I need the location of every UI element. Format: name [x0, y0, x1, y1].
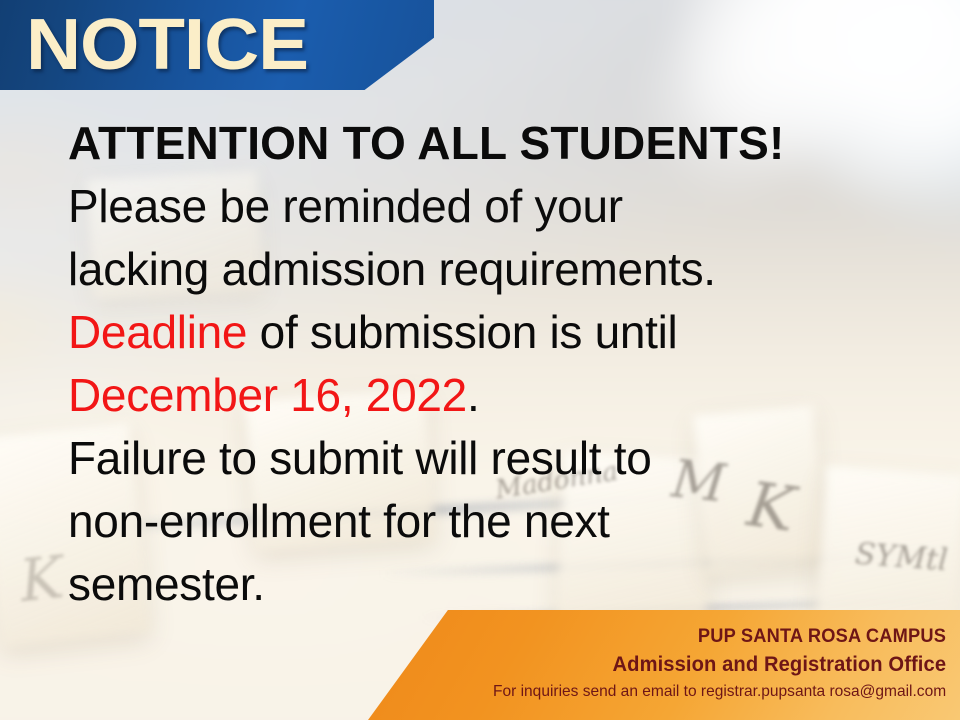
announcement-line-4: Deadline of submission is until [68, 301, 928, 364]
announcement-line-5: December 16, 2022. [68, 364, 928, 427]
footer-campus-name: PUP SANTA ROSA CAMPUS [498, 624, 946, 650]
notice-poster: Madonna M K SYMtl K NOTICE ATTENTION TO … [0, 0, 960, 720]
announcement-line-7-text: non-enrollment for the next [68, 495, 610, 547]
announcement-line-4-text: of submission is until [247, 306, 677, 358]
announcement-line-6: Failure to submit will result to [68, 427, 928, 490]
announcement-line-3-text: lacking admission requirements. [68, 243, 716, 295]
announcement-line-5-text: . [467, 369, 479, 421]
announcement-headline: ATTENTION TO ALL STUDENTS! [68, 112, 928, 175]
announcement-line-3: lacking admission requirements. [68, 238, 928, 301]
deadline-keyword: Deadline [68, 306, 247, 358]
announcement-line-6-text: Failure to submit will result to [68, 432, 651, 484]
footer-office-name: Admission and Registration Office [498, 650, 946, 679]
announcement-line-2: Please be reminded of your [68, 175, 928, 238]
notice-ribbon: NOTICE [0, 0, 434, 90]
notice-ribbon-label: NOTICE [26, 9, 308, 81]
announcement-line-8-text: semester. [68, 558, 265, 610]
announcement-text-block: ATTENTION TO ALL STUDENTS! Please be rem… [68, 112, 928, 616]
deadline-date: December 16, 2022 [68, 369, 467, 421]
announcement-line-7: non-enrollment for the next [68, 490, 928, 553]
announcement-line-2-text: Please be reminded of your [68, 180, 623, 232]
footer-text-block: PUP SANTA ROSA CAMPUS Admission and Regi… [479, 624, 946, 704]
footer-contact-email: For inquiries send an email to registrar… [493, 679, 946, 704]
announcement-line-8: semester. [68, 553, 928, 616]
